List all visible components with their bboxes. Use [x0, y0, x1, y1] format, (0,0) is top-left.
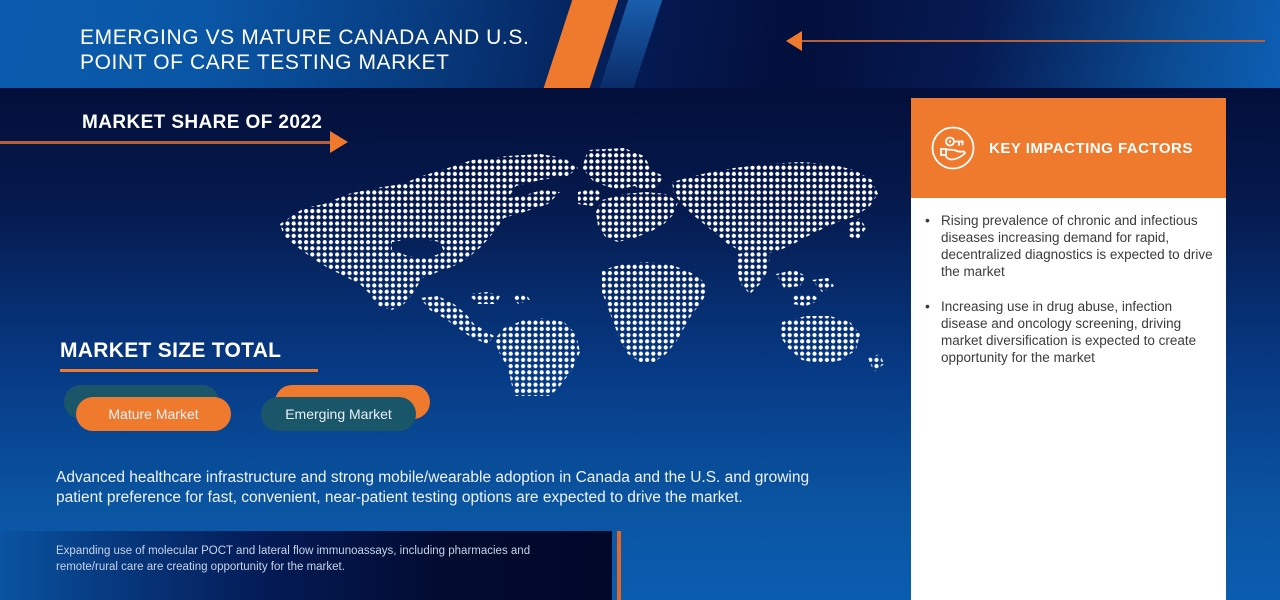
bullet-text: Rising prevalence of chronic and infecti…: [941, 212, 1215, 280]
world-map-dotted-icon: [272, 146, 887, 396]
panel-title: KEY IMPACTING FACTORS: [989, 140, 1193, 157]
pill-emerging-market-label[interactable]: Emerging Market: [261, 397, 416, 431]
market-share-arrow-line: [0, 141, 332, 144]
pill-mature-market-label[interactable]: Mature Market: [76, 397, 231, 431]
market-share-label: MARKET SHARE OF 2022: [82, 112, 322, 134]
list-item: • Rising prevalence of chronic and infec…: [925, 212, 1215, 280]
panel-header: KEY IMPACTING FACTORS: [911, 98, 1226, 198]
market-size-underline: [60, 369, 318, 372]
footer-band-secondary: [622, 531, 635, 600]
footer-accent-bar: [617, 531, 621, 600]
footer-description-text: Expanding use of molecular POCT and late…: [56, 543, 576, 575]
page-header: EMERGING VS MATURE CANADA AND U.S. POINT…: [0, 0, 1280, 88]
pill-emerging-market[interactable]: Emerging Market: [261, 385, 441, 445]
bullet-marker: •: [925, 298, 941, 366]
panel-bullet-list: • Rising prevalence of chronic and infec…: [925, 212, 1215, 384]
bullet-text: Increasing use in drug abuse, infection …: [941, 298, 1215, 366]
bullet-marker: •: [925, 212, 941, 280]
header-arrow-line: [800, 40, 1265, 42]
hand-holding-key-icon: [930, 125, 976, 171]
page-title: EMERGING VS MATURE CANADA AND U.S. POINT…: [80, 25, 550, 75]
list-item: • Increasing use in drug abuse, infectio…: [925, 298, 1215, 366]
infographic-stage: MARKET SHARE OF 2022 MARKET SIZE TOTAL M…: [0, 0, 1280, 600]
arrow-left-icon: [786, 31, 802, 51]
pill-mature-market[interactable]: Mature Market: [64, 385, 244, 445]
market-size-total-label: MARKET SIZE TOTAL: [60, 339, 281, 363]
arrow-right-icon: [330, 131, 348, 153]
main-description-text: Advanced healthcare infrastructure and s…: [56, 468, 856, 508]
